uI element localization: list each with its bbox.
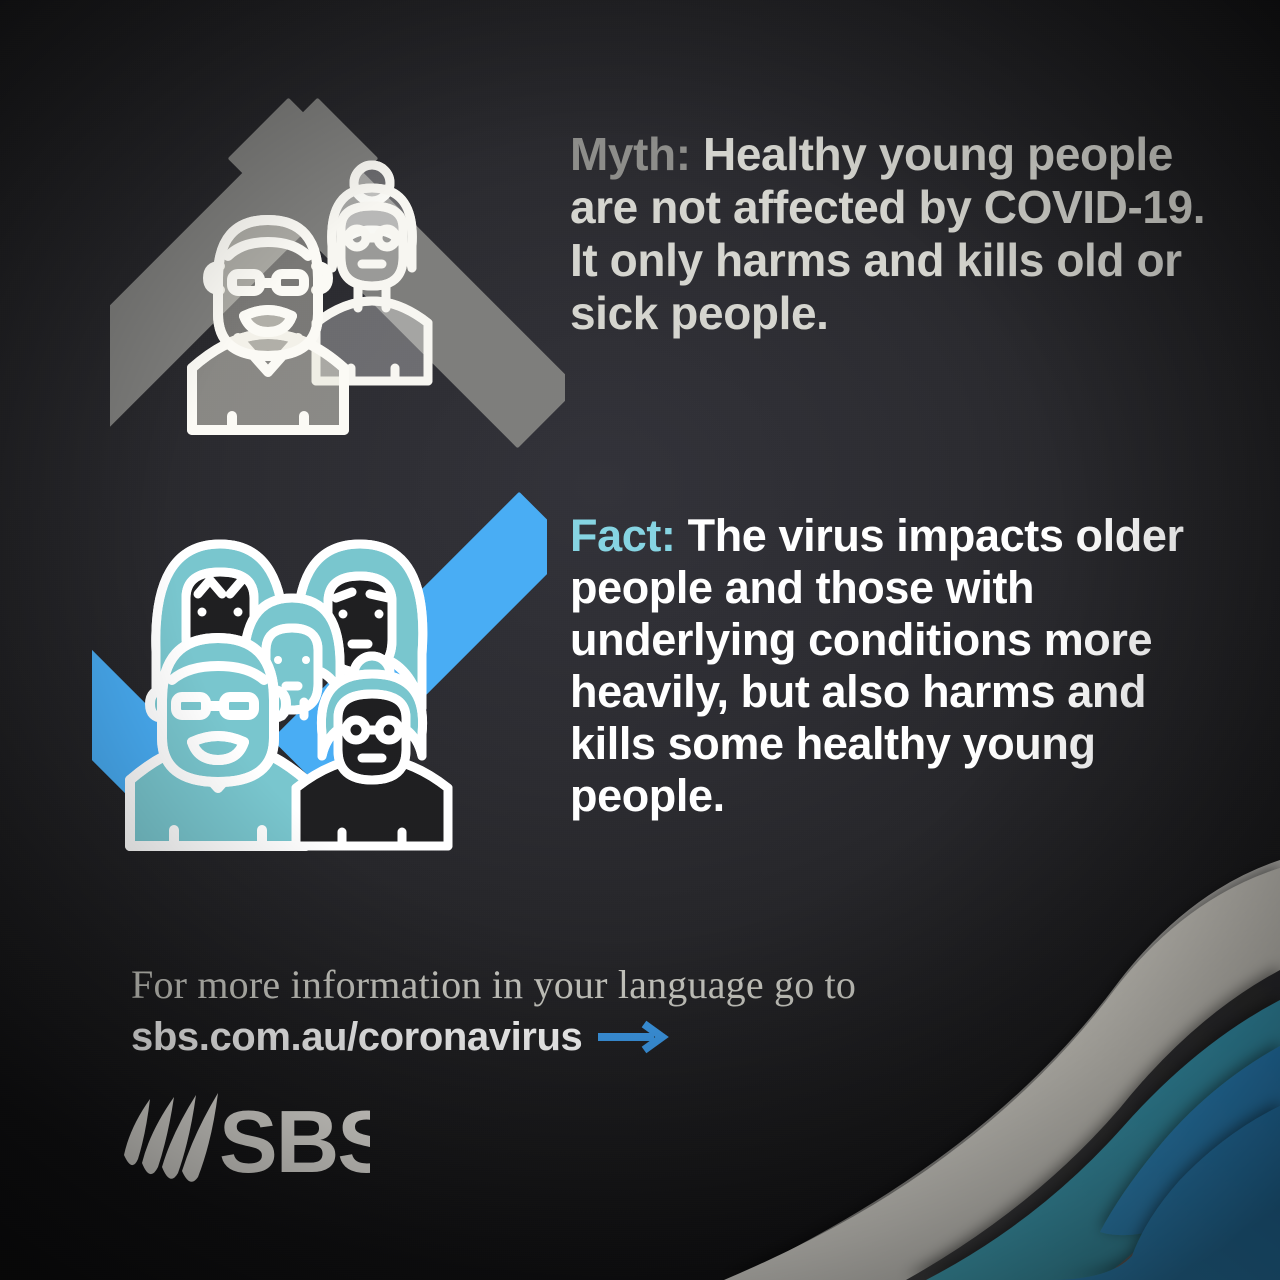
sbs-logo: SBS bbox=[120, 1093, 370, 1185]
fact-headline: Fact: The virus impacts older people and… bbox=[570, 486, 1230, 822]
website-url[interactable]: sbs.com.au/coronavirus bbox=[131, 1014, 582, 1060]
fact-row: Fact: The virus impacts older people and… bbox=[0, 486, 1280, 856]
myth-headline: Myth: Healthy young people are not affec… bbox=[570, 78, 1230, 340]
wave-layer-cream bbox=[724, 868, 1280, 1280]
check-mark-with-group-of-people-icon bbox=[92, 486, 547, 856]
wave-decoration bbox=[580, 850, 1280, 1280]
myth-row: Myth: Healthy young people are not affec… bbox=[0, 78, 1280, 468]
sbs-wordmark: SBS bbox=[219, 1093, 370, 1185]
fact-icon bbox=[92, 486, 547, 856]
wave-layer-light-gray bbox=[730, 860, 1280, 1280]
footer: For more information in your language go… bbox=[131, 962, 991, 1060]
fact-text-block: Fact: The virus impacts older people and… bbox=[570, 486, 1230, 822]
footer-url-row[interactable]: sbs.com.au/coronavirus bbox=[131, 1014, 991, 1060]
myth-prefix-label: Myth: bbox=[570, 128, 691, 180]
poster-canvas: Myth: Healthy young people are not affec… bbox=[0, 0, 1280, 1280]
wave-layer-blue bbox=[1100, 1046, 1280, 1235]
myth-text-block: Myth: Healthy young people are not affec… bbox=[570, 78, 1230, 340]
arrow-right-icon[interactable] bbox=[596, 1020, 670, 1054]
sbs-logo-svg: SBS bbox=[120, 1093, 370, 1185]
fact-prefix-label: Fact: bbox=[570, 510, 676, 561]
myth-icon bbox=[110, 78, 565, 468]
sbs-flame-icon bbox=[124, 1093, 218, 1182]
cross-mark-with-elderly-couple-icon bbox=[110, 78, 565, 468]
wave-layer-blue-pool bbox=[1050, 1106, 1280, 1280]
footer-label: For more information in your language go… bbox=[131, 962, 991, 1008]
